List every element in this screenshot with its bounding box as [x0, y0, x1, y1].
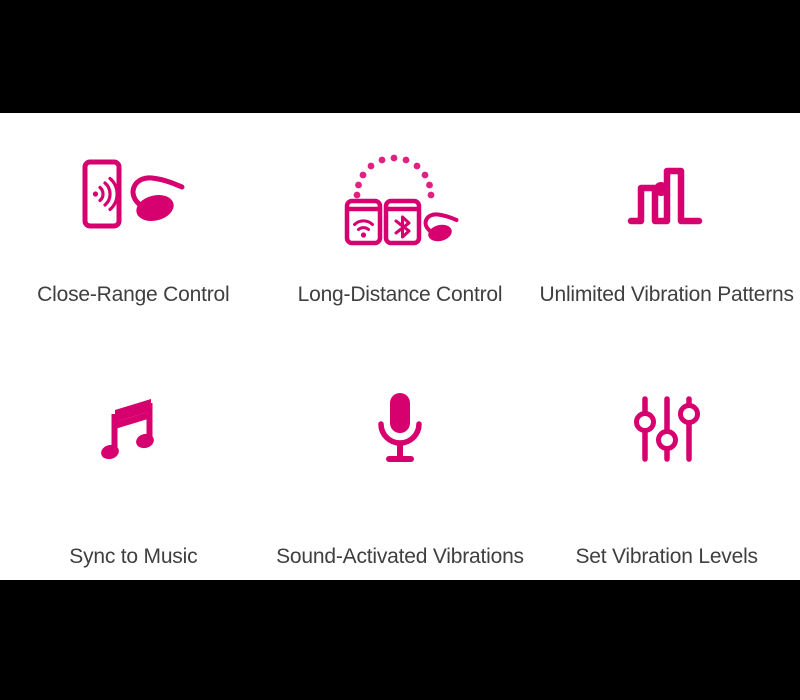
- feature-label-close-range-control: Close-Range Control: [0, 283, 267, 307]
- feature-item-close-range-control[interactable]: Close-Range Control: [0, 113, 267, 347]
- feature-item-sound-activated-vibrations[interactable]: Sound-Activated Vibrations: [267, 347, 534, 581]
- music-note-icon: [101, 369, 165, 489]
- feature-label-set-vibration-levels: Set Vibration Levels: [533, 545, 800, 569]
- waveform-pulse-icon: [627, 135, 707, 255]
- two-phones-wifi-bluetooth-egg-icon: [341, 135, 459, 255]
- phone-signal-egg-icon: [79, 135, 187, 255]
- feature-item-unlimited-vibration-patterns[interactable]: Unlimited Vibration Patterns: [533, 113, 800, 347]
- letterbox-bottom-bar: [0, 580, 800, 700]
- feature-item-long-distance-control[interactable]: Long-Distance Control: [267, 113, 534, 347]
- feature-item-sync-to-music[interactable]: Sync to Music: [0, 347, 267, 581]
- feature-grid-content: Close-Range Control: [0, 113, 800, 580]
- feature-item-set-vibration-levels[interactable]: Set Vibration Levels: [533, 347, 800, 581]
- page-root: Close-Range Control: [0, 0, 800, 700]
- letterbox-top-bar: [0, 0, 800, 113]
- sliders-icon: [633, 369, 701, 489]
- feature-label-sync-to-music: Sync to Music: [0, 545, 267, 569]
- feature-grid: Close-Range Control: [0, 113, 800, 580]
- feature-label-long-distance-control: Long-Distance Control: [267, 283, 534, 307]
- feature-label-unlimited-vibration-patterns: Unlimited Vibration Patterns: [533, 283, 800, 307]
- microphone-icon: [372, 369, 428, 489]
- feature-label-sound-activated-vibrations: Sound-Activated Vibrations: [267, 545, 534, 569]
